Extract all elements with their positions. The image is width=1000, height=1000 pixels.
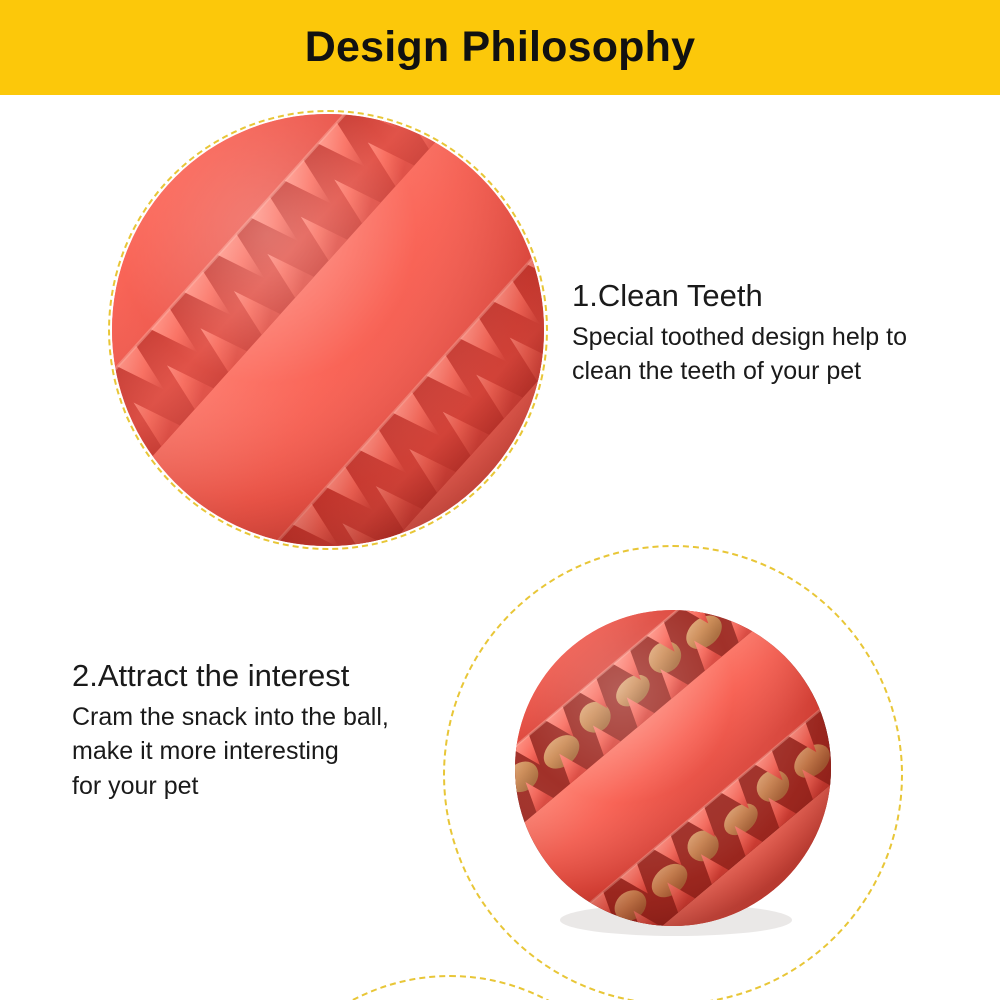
feature-line-2-1: Cram the snack into the ball,	[72, 700, 472, 735]
feature-heading-2: 2.Attract the interest	[72, 658, 472, 695]
feature-text-attract-interest: 2.Attract the interest Cram the snack in…	[72, 658, 472, 803]
feature-line-2-3: for your pet	[72, 769, 472, 804]
ball-with-treats-svg	[508, 608, 838, 938]
ball-closeup-svg	[110, 112, 546, 548]
product-image-ball-with-treats	[508, 608, 838, 938]
page-title: Design Philosophy	[305, 26, 695, 69]
feature-heading-1: 1.Clean Teeth	[572, 278, 992, 315]
feature-line-1-1: Special toothed design help to	[572, 320, 992, 355]
feature-line-1-2: clean the teeth of your pet	[572, 354, 992, 389]
feature-line-2-2: make it more interesting	[72, 734, 472, 769]
product-image-ball-closeup	[110, 112, 546, 548]
infographic-page: Design Philosophy	[0, 0, 1000, 1000]
feature-text-clean-teeth: 1.Clean Teeth Special toothed design hel…	[572, 278, 992, 389]
header-banner: Design Philosophy	[0, 0, 1000, 95]
